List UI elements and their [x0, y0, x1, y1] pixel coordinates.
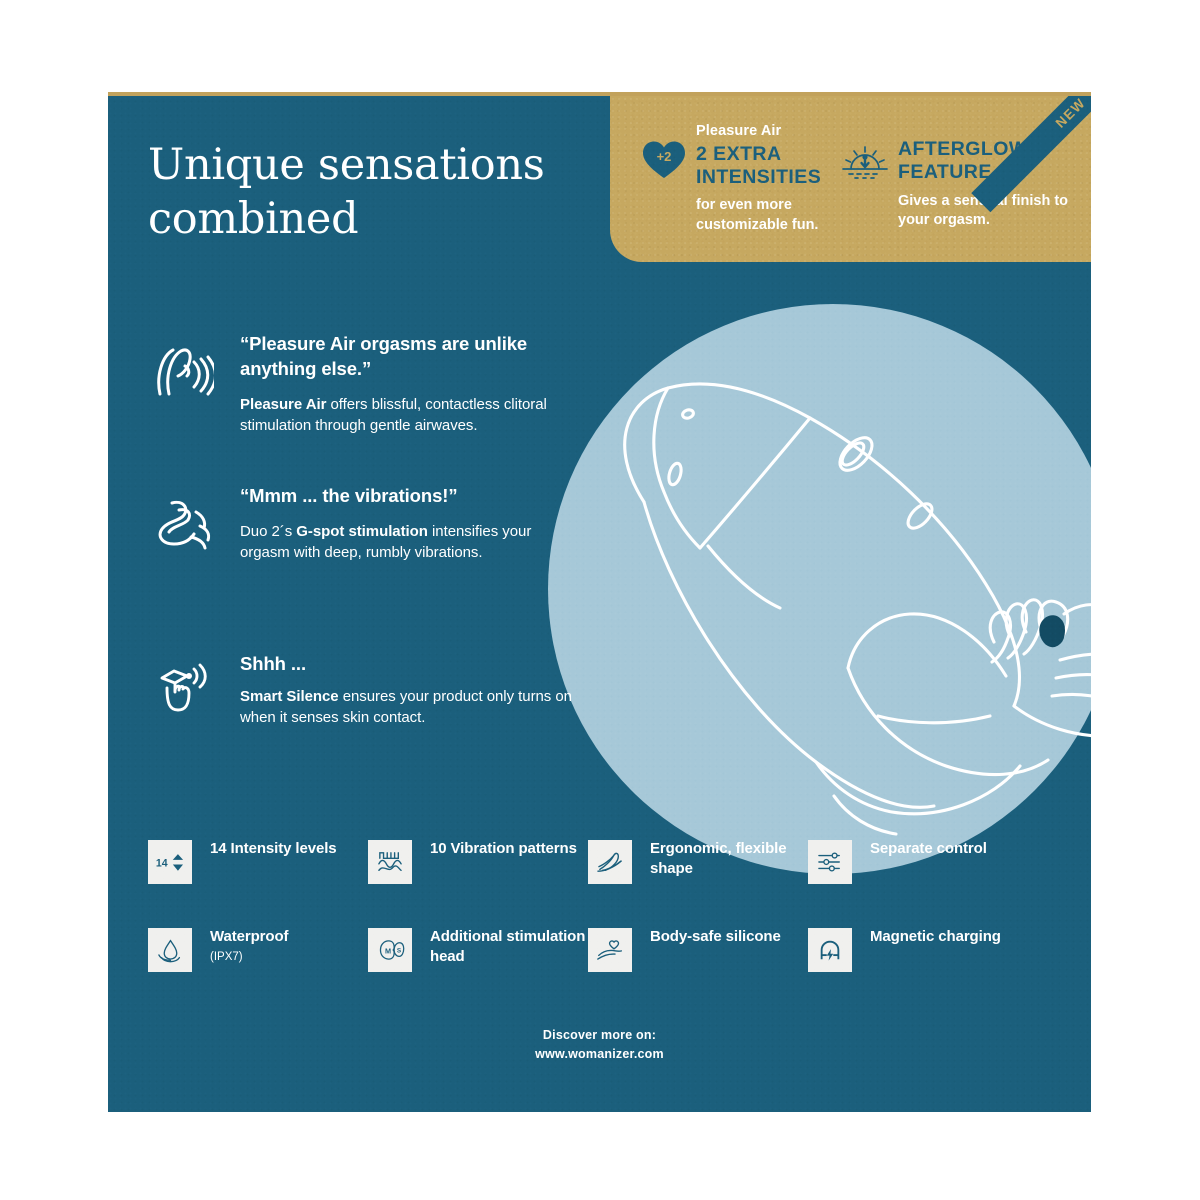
vibration-lines-icon [156, 498, 214, 552]
feature-block-vibrations: “Mmm ... the vibrations!” Duo 2´s G-spot… [148, 484, 578, 564]
feature-desc-emphasis: G-spot stimulation [296, 523, 428, 540]
spec-item-body-safe-silicone: Body-safe silicone [588, 926, 808, 1014]
magnetic-charging-icon [817, 937, 843, 963]
spec-label: Separate control [870, 838, 987, 859]
spec-label: Body-safe silicone [650, 926, 781, 947]
spec-badge [808, 928, 852, 972]
spec-item-magnetic-charging: Magnetic charging [808, 926, 1028, 1014]
promo-title: 2 EXTRA INTENSITIES [696, 143, 848, 189]
feature-quote: “Mmm ... the vibrations!” [240, 484, 578, 509]
page-title: Unique sensations combined [148, 138, 618, 246]
spec-label: Waterproof (IPX7) [210, 926, 288, 965]
feature-desc-emphasis: Smart Silence [240, 688, 339, 705]
footer: Discover more on: www.womanizer.com [108, 1026, 1091, 1064]
afterglow-sunset-icon [840, 144, 890, 182]
feature-description: Duo 2´s G-spot stimulation intensifies y… [240, 521, 578, 564]
svg-text:S: S [396, 948, 400, 955]
footer-line-2: www.womanizer.com [108, 1045, 1091, 1064]
feature-description: Smart Silence ensures your product only … [240, 686, 578, 729]
promo-banner: +2 Pleasure Air 2 EXTRA INTENSITIES for … [610, 96, 1091, 262]
spec-item-vibration-patterns: 10 Vibration patterns [368, 838, 588, 926]
spec-label: Magnetic charging [870, 926, 1001, 947]
spec-label: Ergonomic, flexible shape [650, 838, 808, 879]
spec-item-separate-control: Separate control [808, 838, 1028, 926]
product-line-art-illustration [548, 296, 1091, 896]
spec-sublabel: (IPX7) [210, 950, 288, 965]
vibration-patterns-icon [376, 850, 404, 874]
body-safe-hand-heart-icon [596, 938, 625, 962]
heart-plus-two-icon: +2 [642, 140, 686, 180]
spec-badge [588, 840, 632, 884]
pleasure-air-waves-icon [156, 346, 214, 400]
spec-badge [148, 928, 192, 972]
spec-badge [368, 840, 412, 884]
waterproof-droplet-icon [157, 938, 184, 963]
spec-item-stimulation-head: M S Additional stimulation head [368, 926, 588, 1014]
spec-label-text: Waterproof [210, 928, 288, 945]
svg-text:14: 14 [156, 857, 168, 869]
feature-description: Pleasure Air offers blissful, contactles… [240, 394, 578, 437]
svg-text:M: M [385, 947, 391, 956]
footer-line-1: Discover more on: [108, 1026, 1091, 1045]
spec-badge: 14 [148, 840, 192, 884]
promo-eyebrow: Pleasure Air [696, 122, 848, 141]
smart-silence-touch-icon [156, 660, 214, 714]
spec-item-waterproof: Waterproof (IPX7) [148, 926, 368, 1014]
promo-subtitle: for even more customizable fun. [696, 196, 848, 235]
stimulation-head-sizes-icon: M S [375, 938, 406, 962]
spec-label: 10 Vibration patterns [430, 838, 577, 859]
spec-label: Additional stimulation head [430, 926, 588, 967]
spec-item-ergonomic-shape: Ergonomic, flexible shape [588, 838, 808, 926]
ergonomic-shape-icon [595, 850, 625, 874]
spec-badge: M S [368, 928, 412, 972]
feature-quote: “Pleasure Air orgasms are unlike anythin… [240, 332, 578, 382]
svg-text:+2: +2 [657, 149, 672, 164]
feature-block-pleasure-air: “Pleasure Air orgasms are unlike anythin… [148, 332, 578, 436]
intensity-levels-icon: 14 [155, 851, 185, 873]
spec-label: 14 Intensity levels [210, 838, 337, 859]
feature-quote: Shhh ... [240, 652, 578, 677]
spec-badge [808, 840, 852, 884]
spec-item-intensity-levels: 14 14 Intensity levels [148, 838, 368, 926]
spec-badge [588, 928, 632, 972]
product-package-back-panel: Unique sensations combined +2 Pleasure A… [108, 96, 1091, 1112]
feature-desc-pre: Duo 2´s [240, 523, 296, 540]
feature-block-smart-silence: Shhh ... Smart Silence ensures your prod… [148, 652, 578, 729]
specification-grid: 14 14 Intensity levels [148, 838, 1048, 1014]
feature-desc-emphasis: Pleasure Air [240, 396, 326, 413]
separate-control-sliders-icon [816, 850, 844, 874]
